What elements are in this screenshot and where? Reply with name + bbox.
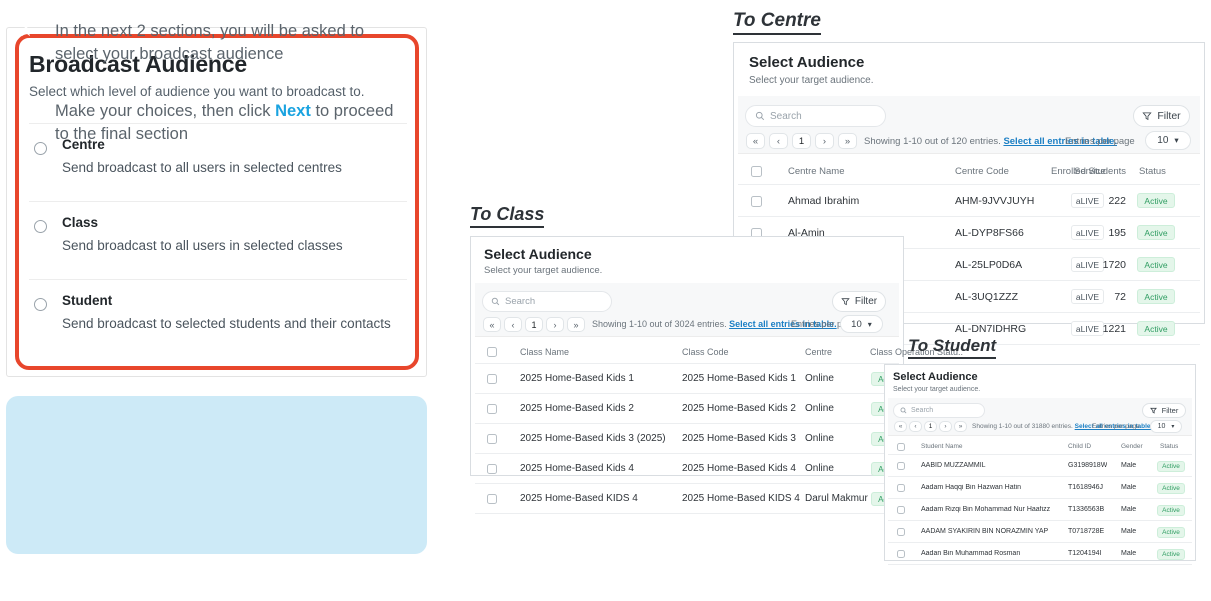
search-input[interactable]: Search (745, 105, 886, 127)
column-header: Class Code (682, 347, 729, 357)
cell-child-id: T1204194I (1068, 550, 1101, 557)
star-icon: ★ (17, 102, 35, 119)
row-checkbox[interactable] (487, 494, 497, 504)
cell-child-id: T1336563B (1068, 506, 1104, 513)
filter-button[interactable]: Filter (1133, 105, 1190, 127)
next-link[interactable]: Next (275, 102, 311, 120)
select-all-checkbox[interactable] (897, 443, 905, 451)
pager-first-button[interactable]: « (746, 133, 765, 149)
filter-button[interactable]: Filter (832, 291, 886, 312)
page-subtitle: Select which level of audience you want … (29, 84, 364, 99)
panel-subtitle: Select your target audience. (749, 75, 874, 86)
chevron-down-icon: ▾ (1174, 135, 1178, 146)
cell-class-name: 2025 Home-Based Kids 2 (520, 403, 634, 414)
table-header-row: Student Name Child ID Gender Status (888, 437, 1192, 455)
option-label: Student (62, 293, 112, 308)
table-header-row: Class Name Class Code Centre Class Opera… (475, 339, 899, 364)
panel-subtitle: Select your target audience. (484, 265, 602, 276)
entries-per-page-select[interactable]: 10▾ (1150, 420, 1182, 433)
filter-label: Filter (1157, 110, 1180, 122)
entries-per-page-select[interactable]: 10▾ (1145, 131, 1191, 150)
row-checkbox[interactable] (487, 434, 497, 444)
row-checkbox[interactable] (897, 550, 905, 558)
section-label-class: To Class (470, 204, 544, 228)
pager-last-button[interactable]: » (838, 133, 857, 149)
search-icon (900, 407, 907, 414)
search-placeholder: Search (770, 111, 802, 122)
pager-last-button[interactable]: » (567, 317, 585, 332)
column-header: Class Name (520, 347, 569, 357)
cell-class-name: 2025 Home-Based KIDS 4 (520, 493, 638, 504)
column-header: Centre (805, 347, 832, 357)
filter-label: Filter (855, 296, 877, 307)
showing-text: Showing 1-10 out of 3024 entries. (592, 319, 727, 329)
filter-label: Filter (1162, 406, 1179, 415)
filter-icon (1150, 407, 1157, 414)
status-badge: Active (1157, 483, 1185, 494)
radio-icon[interactable] (34, 142, 47, 155)
cell-class-name: 2025 Home-Based Kids 1 (520, 373, 634, 384)
pager-first-button[interactable]: « (483, 317, 501, 332)
select-all-checkbox[interactable] (487, 347, 497, 357)
cell-student-name: Aadam Rizqi Bin Mohammad Nur Haafizz (921, 506, 1050, 513)
row-checkbox[interactable] (487, 404, 497, 414)
pager-next-button[interactable]: › (546, 317, 564, 332)
cell-class-code: 2025 Home-Based KIDS 4 (682, 493, 800, 504)
search-input[interactable]: Search (893, 403, 985, 418)
entries-per-page-select[interactable]: 10▾ (840, 315, 883, 333)
cell-class-code: 2025 Home-Based Kids 4 (682, 463, 796, 474)
radio-icon[interactable] (34, 220, 47, 233)
pager-first-button[interactable]: « (894, 421, 907, 432)
cell-student-name: Aadan Bin Muhammad Rosman (921, 550, 1020, 557)
cell-student-name: AABID MUZZAMMIL (921, 462, 986, 469)
search-placeholder: Search (505, 296, 535, 307)
column-header: Child ID (1068, 443, 1091, 450)
status-badge: Active (1157, 505, 1185, 516)
cell-gender: Male (1121, 550, 1136, 557)
option-description: Send broadcast to all users in selected … (62, 160, 342, 175)
status-badge: Active (1157, 527, 1185, 538)
status-badge: Active (1137, 257, 1175, 272)
chevron-down-icon: ▾ (1171, 423, 1174, 430)
status-badge: Active (1137, 193, 1175, 208)
column-header: Gender (1121, 443, 1143, 450)
cell-gender: Male (1121, 506, 1136, 513)
cell-centre: Darul Makmur (805, 493, 868, 504)
cell-class-code: 2025 Home-Based Kids 1 (682, 373, 796, 384)
cell-class-name: 2025 Home-Based Kids 3 (2025) (520, 433, 666, 444)
option-description: Send broadcast to all users in selected … (62, 238, 343, 253)
cell-student-name: AADAM SYAKIRIN BIN NORAZMIN YAP (921, 528, 1048, 535)
column-header: Student Name (921, 443, 963, 450)
filter-icon (1142, 111, 1152, 121)
table-row[interactable]: 2025 Home-Based KIDS 4 2025 Home-Based K… (475, 484, 899, 514)
panel-title: Select Audience (749, 54, 864, 71)
table-row[interactable]: 2025 Home-Based Kids 4 2025 Home-Based K… (475, 454, 899, 484)
cell-centre: Online (805, 403, 834, 414)
cell-child-id: T0718728E (1068, 528, 1104, 535)
cell-gender: Male (1121, 484, 1136, 491)
row-checkbox[interactable] (897, 528, 905, 536)
panel-title: Select Audience (484, 246, 592, 262)
pager-prev-button[interactable]: ‹ (909, 421, 922, 432)
audience-option-class[interactable]: Class Send broadcast to all users in sel… (29, 201, 407, 267)
status-badge: Active (1157, 461, 1185, 472)
pager-next-button[interactable]: › (939, 421, 952, 432)
tip-text: In the next 2 sections, you will be aske… (55, 20, 400, 66)
entries-per-page-label: Entries per page (1092, 423, 1140, 430)
radio-icon[interactable] (34, 298, 47, 311)
cell-child-id: T1618946J (1068, 484, 1103, 491)
table-row[interactable]: Aadan Bin Muhammad Rosman T1204194I Male… (888, 543, 1192, 565)
table-row[interactable]: 2025 Home-Based Kids 3 (2025) 2025 Home-… (475, 424, 899, 454)
table-row[interactable]: 2025 Home-Based Kids 1 2025 Home-Based K… (475, 364, 899, 394)
pager-current-page[interactable]: 1 (792, 133, 811, 149)
option-label: Class (62, 215, 98, 230)
section-label-student: To Student (908, 336, 996, 359)
pager-next-button[interactable]: › (815, 133, 834, 149)
pager-current-page[interactable]: 1 (924, 421, 937, 432)
entries-per-page-label: Entries per page (1065, 136, 1135, 147)
pager-prev-button[interactable]: ‹ (504, 317, 522, 332)
row-checkbox[interactable] (897, 506, 905, 514)
cell-class-code: 2025 Home-Based Kids 3 (682, 433, 796, 444)
showing-text: Showing 1-10 out of 31880 entries. (972, 423, 1073, 430)
table-row[interactable]: Aadam Haqqi Bin Hazwan Hatin T1618946J M… (888, 477, 1192, 499)
cell-class-code: 2025 Home-Based Kids 2 (682, 403, 796, 414)
cell-class-name: 2025 Home-Based Kids 4 (520, 463, 634, 474)
star-icon: ★ (17, 22, 35, 39)
search-icon (491, 297, 500, 306)
chevron-down-icon: ▾ (868, 320, 872, 329)
cell-child-id: G3198918W (1068, 462, 1107, 469)
showing-text: Showing 1-10 out of 120 entries. (864, 136, 1001, 147)
column-header: Status (1139, 166, 1166, 177)
option-description: Send broadcast to selected students and … (62, 316, 391, 331)
tip-text-pre: Make your choices, then click (55, 102, 275, 120)
row-checkbox[interactable] (897, 462, 905, 470)
entries-per-page-value: 10 (1157, 135, 1168, 146)
table-header-row: Centre Name Centre Code Service Status E… (738, 157, 1200, 185)
entries-per-page-value: 10 (851, 319, 862, 330)
filter-icon (841, 297, 850, 306)
cell-gender: Male (1121, 528, 1136, 535)
panel-subtitle: Select your target audience. (893, 386, 980, 393)
cell-gender: Male (1121, 462, 1136, 469)
search-input[interactable]: Search (482, 291, 612, 312)
row-checkbox[interactable] (487, 374, 497, 384)
status-badge: Active (1137, 225, 1175, 240)
pager-current-page[interactable]: 1 (525, 317, 543, 332)
cell-enrolled-students: 222 (678, 195, 1126, 207)
table-row[interactable]: 2025 Home-Based Kids 2 2025 Home-Based K… (475, 394, 899, 424)
search-icon (755, 111, 765, 121)
column-header: Status (1160, 443, 1178, 450)
status-badge: Active (1137, 321, 1175, 336)
status-badge: Active (1137, 289, 1175, 304)
section-label-centre: To Centre (733, 10, 821, 35)
table-row[interactable]: Ahmad Ibrahim AHM-9JVVJUYH aLIVE Active … (738, 185, 1200, 217)
search-placeholder: Search (911, 407, 933, 414)
tips-callout (6, 396, 427, 554)
row-checkbox[interactable] (897, 484, 905, 492)
pager-last-button[interactable]: » (954, 421, 967, 432)
panel-title: Select Audience (893, 371, 978, 383)
cell-centre: Online (805, 433, 834, 444)
cell-centre: Online (805, 373, 834, 384)
table-row[interactable]: Aadam Rizqi Bin Mohammad Nur Haafizz T13… (888, 499, 1192, 521)
screenshot-canvas: Broadcast Audience Select which level of… (0, 0, 1211, 601)
cell-centre: Online (805, 463, 834, 474)
pager-prev-button[interactable]: ‹ (769, 133, 788, 149)
tip-text: Make your choices, then click Next to pr… (55, 100, 400, 146)
table-row[interactable]: AADAM SYAKIRIN BIN NORAZMIN YAP T0718728… (888, 521, 1192, 543)
audience-option-student[interactable]: Student Send broadcast to selected stude… (29, 279, 407, 345)
cell-student-name: Aadam Haqqi Bin Hazwan Hatin (921, 484, 1021, 491)
column-header: Enrolled Students (678, 166, 1126, 177)
row-checkbox[interactable] (487, 464, 497, 474)
status-badge: Active (1157, 549, 1185, 560)
filter-button[interactable]: Filter (1142, 403, 1186, 418)
table-row[interactable]: AABID MUZZAMMIL G3198918W Male Active (888, 455, 1192, 477)
entries-per-page-value: 10 (1158, 423, 1166, 430)
